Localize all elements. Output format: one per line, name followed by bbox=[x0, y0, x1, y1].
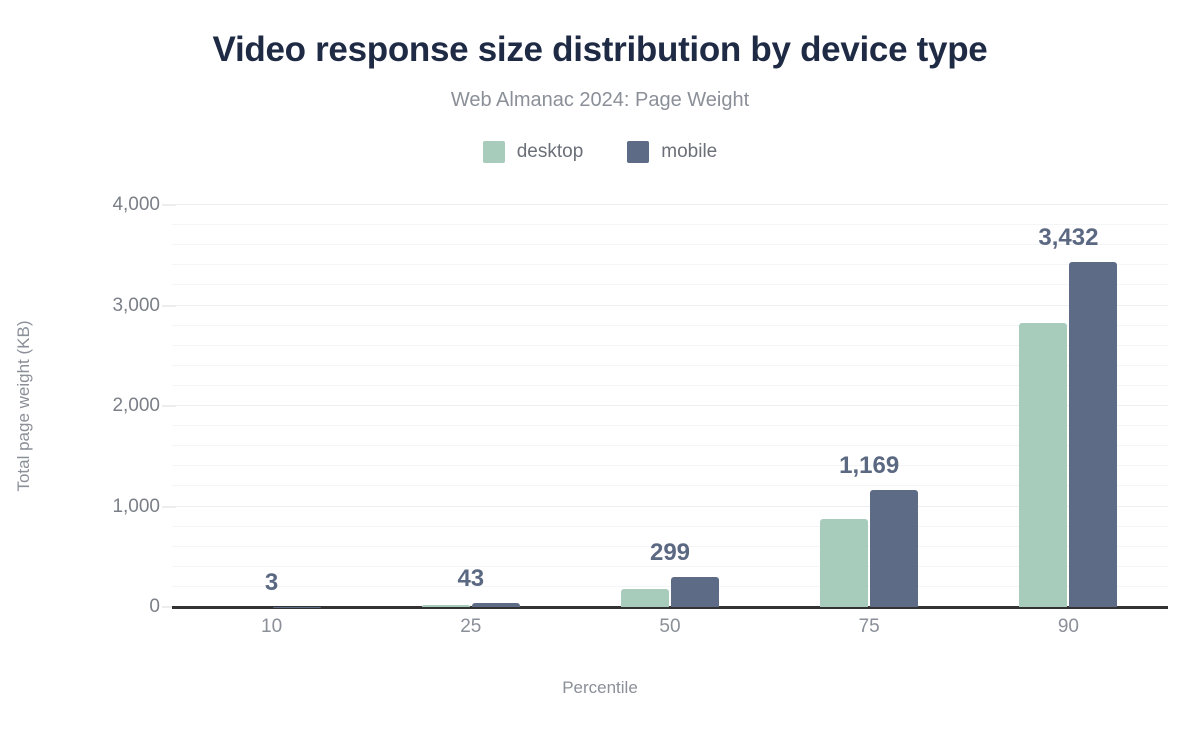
bar-group bbox=[969, 205, 1168, 607]
legend-swatch-mobile bbox=[627, 141, 649, 163]
x-axis-tick-label: 50 bbox=[659, 616, 680, 638]
bar-mobile[interactable] bbox=[671, 577, 719, 607]
bar-mobile[interactable] bbox=[1069, 262, 1117, 607]
x-axis-tick-label: 10 bbox=[261, 616, 282, 638]
bar-mobile[interactable] bbox=[472, 603, 520, 607]
chart-container: Video response size distribution by devi… bbox=[0, 0, 1200, 742]
x-axis-tick-label: 90 bbox=[1058, 616, 1079, 638]
y-axis-tick-label: 0 bbox=[60, 596, 160, 618]
y-axis-ticks: 01,0002,0003,0004,000 bbox=[50, 205, 160, 607]
bar-group bbox=[371, 205, 570, 607]
legend-label-mobile: mobile bbox=[661, 141, 717, 163]
bar-mobile[interactable] bbox=[870, 490, 918, 607]
bar-value-label: 3 bbox=[265, 569, 278, 597]
x-axis-tick-label: 75 bbox=[859, 616, 880, 638]
chart-title: Video response size distribution by devi… bbox=[0, 30, 1200, 70]
bar-desktop[interactable] bbox=[621, 589, 669, 607]
bar-desktop[interactable] bbox=[1019, 323, 1067, 607]
legend-swatch-desktop bbox=[483, 141, 505, 163]
legend-item-mobile[interactable]: mobile bbox=[627, 141, 717, 163]
legend-label-desktop: desktop bbox=[517, 141, 584, 163]
y-axis-tick-label: 2,000 bbox=[60, 395, 160, 417]
x-axis-ticks: 1025507590 bbox=[172, 616, 1168, 646]
bar-desktop[interactable] bbox=[820, 519, 868, 607]
bar-desktop[interactable] bbox=[422, 605, 470, 607]
bar-value-label: 43 bbox=[457, 565, 484, 593]
x-axis-tick-label: 25 bbox=[460, 616, 481, 638]
bar-groups: 3432991,1693,432 bbox=[172, 205, 1168, 607]
y-axis-tick-label: 3,000 bbox=[60, 295, 160, 317]
bar-value-label: 299 bbox=[650, 539, 690, 567]
legend-item-desktop[interactable]: desktop bbox=[483, 141, 584, 163]
bar-value-label: 1,169 bbox=[839, 452, 899, 480]
y-axis-title: Total page weight (KB) bbox=[14, 296, 34, 516]
chart-subtitle: Web Almanac 2024: Page Weight bbox=[0, 89, 1200, 112]
bar-group bbox=[172, 205, 371, 607]
bar-group bbox=[770, 205, 969, 607]
y-axis-tick-label: 4,000 bbox=[60, 194, 160, 216]
chart-legend: desktop mobile bbox=[0, 141, 1200, 163]
y-axis-tick-label: 1,000 bbox=[60, 496, 160, 518]
bar-value-label: 3,432 bbox=[1038, 224, 1098, 252]
x-axis-title: Percentile bbox=[0, 678, 1200, 698]
